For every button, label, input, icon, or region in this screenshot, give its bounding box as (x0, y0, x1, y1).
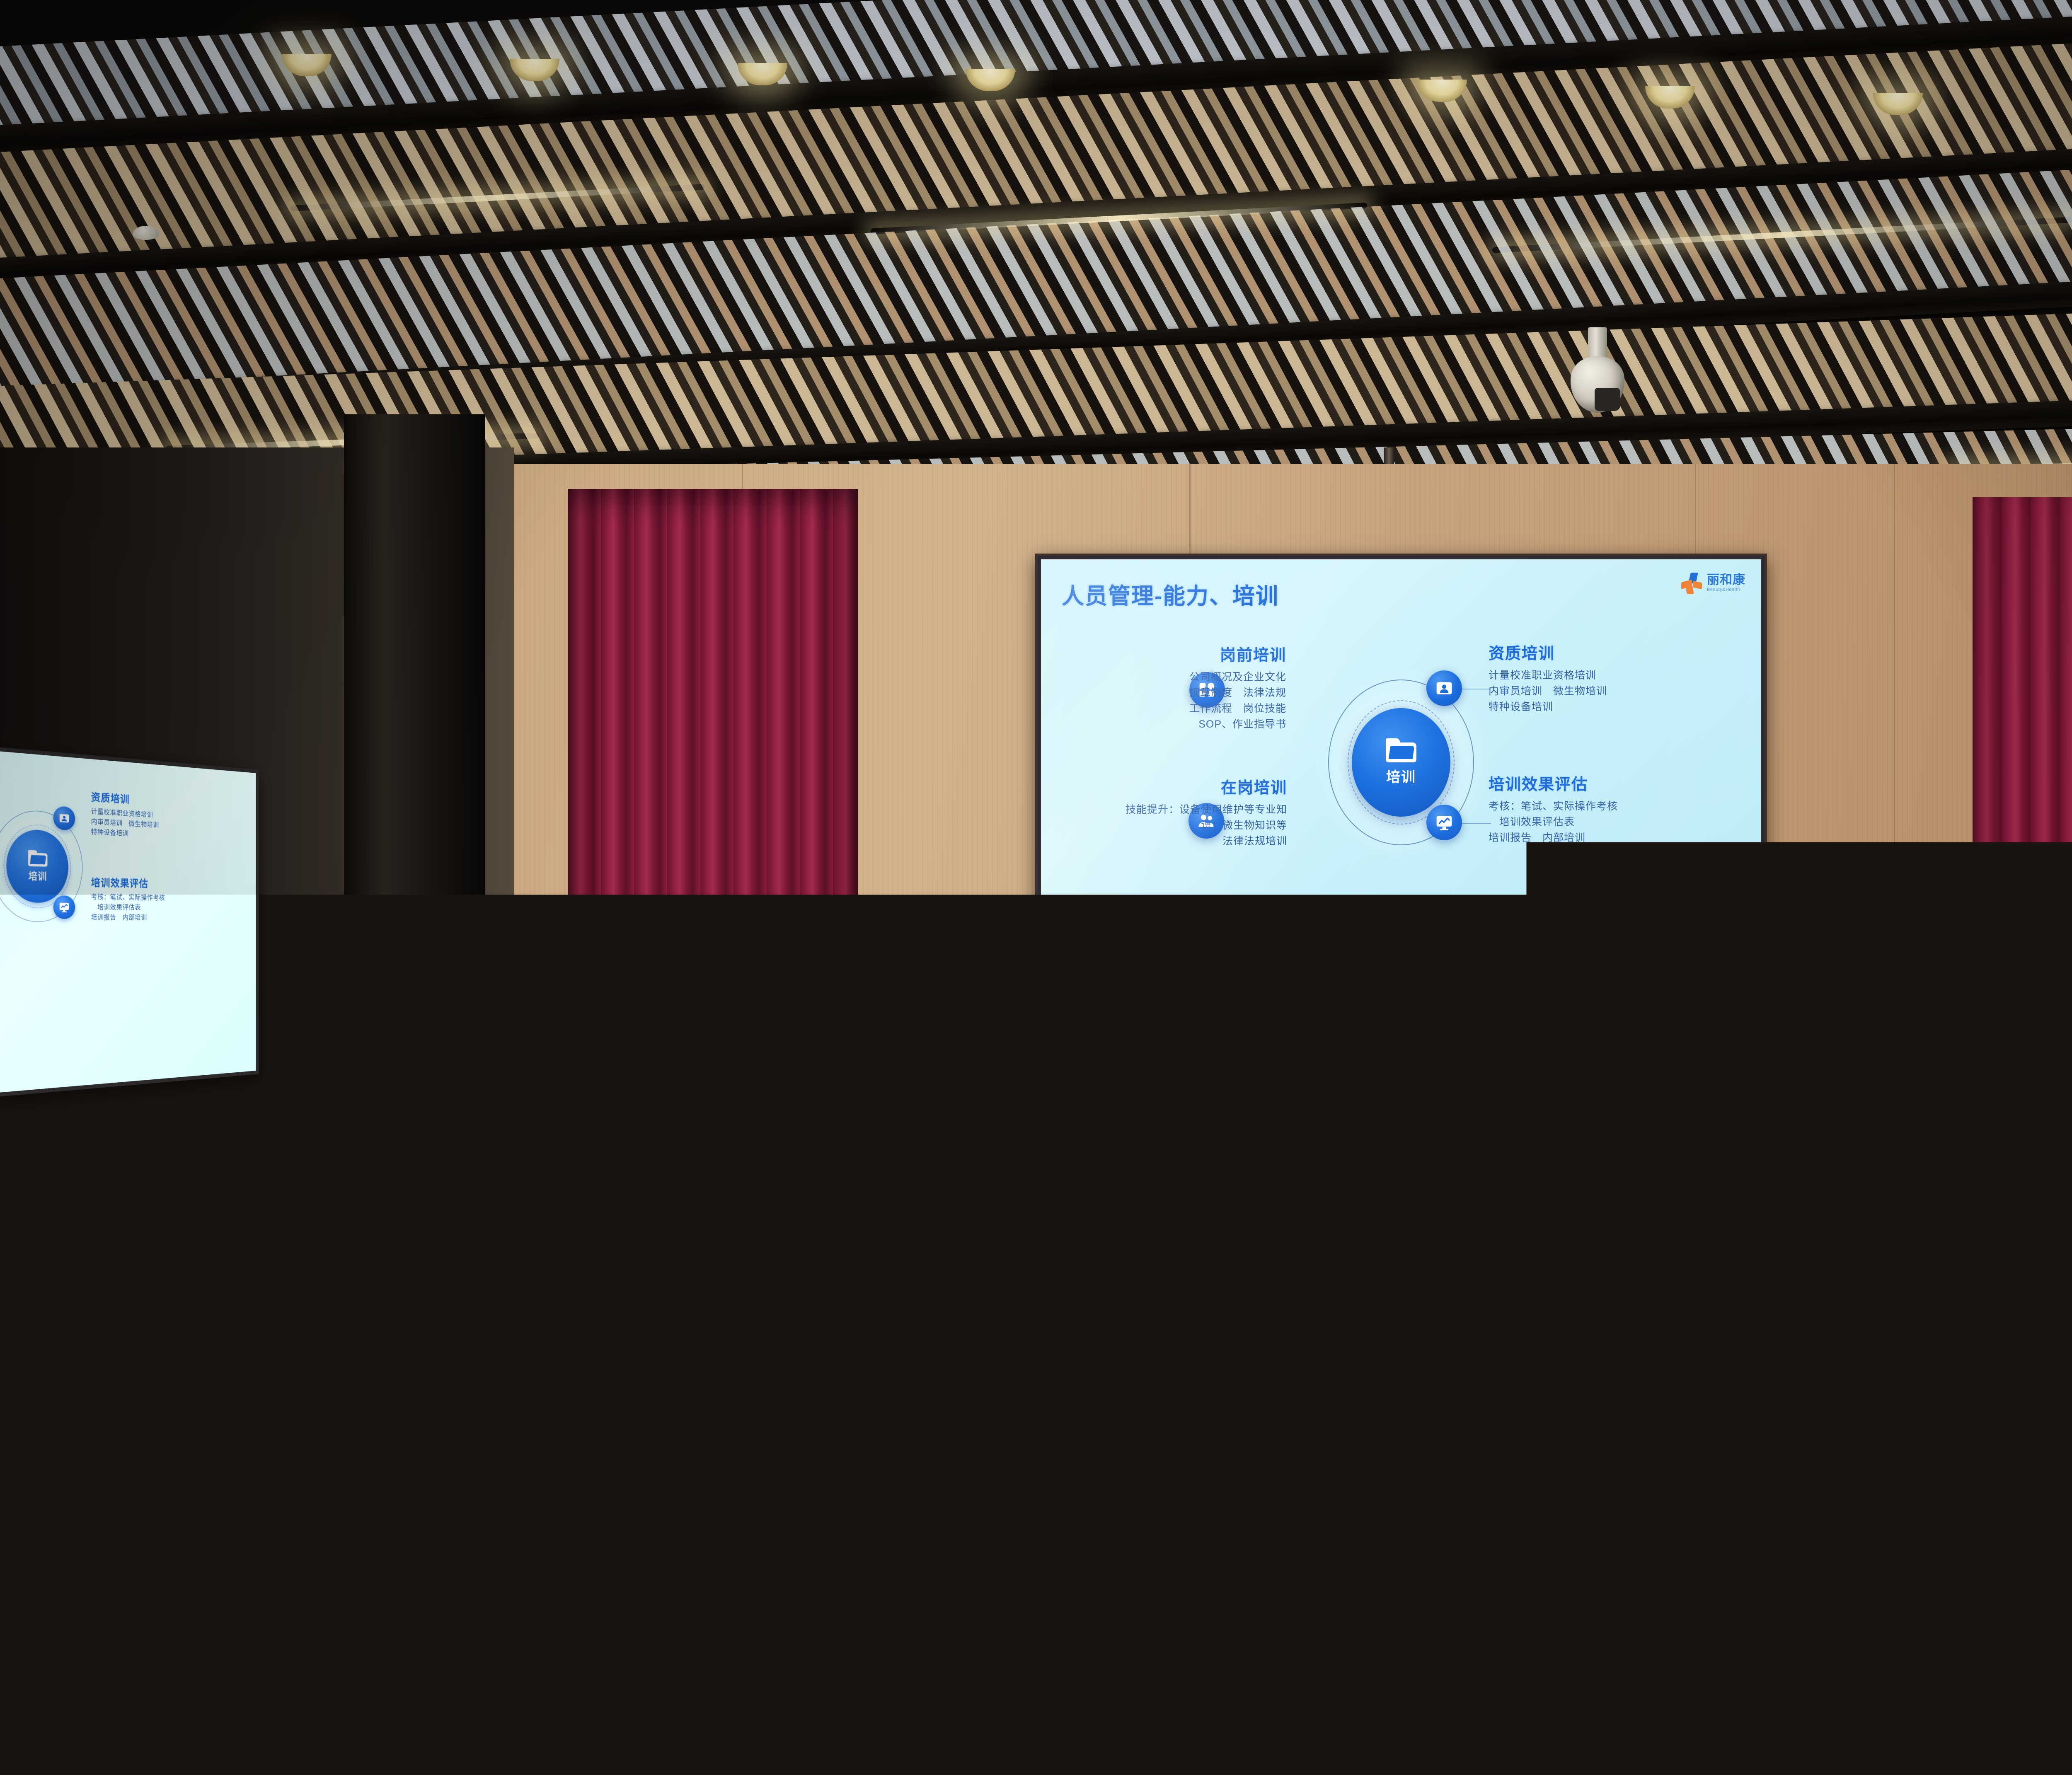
audience-person (1098, 1245, 1160, 1303)
camera-lens (1595, 388, 1620, 411)
secondary-slide: 培训 岗前培训 公司概况及企 (0, 750, 256, 1093)
seat[interactable] (1881, 1637, 2072, 1775)
structural-pillar (344, 414, 485, 1272)
wall-vent-grille (95, 1119, 240, 1218)
block-training-effect-evaluation: 培训效果评估 考核：笔试、实际操作考核 培训效果评估表 培训报告 内部培训 (91, 874, 224, 923)
water-bottle[interactable] (1036, 1630, 1060, 1692)
audience-person (696, 1243, 758, 1301)
seat[interactable] (742, 1469, 916, 1606)
water-bottle[interactable] (1011, 1089, 1025, 1127)
wall-panel-seam (1894, 464, 1895, 1193)
podium-top (617, 1052, 754, 1098)
ptz-dome-camera (1571, 327, 1624, 414)
seat[interactable] (145, 1458, 319, 1595)
audience-area (0, 1226, 2072, 1775)
audience-person (518, 1309, 593, 1380)
secondary-diagram: 培训 岗前培训 公司概况及企 (0, 750, 241, 1001)
stage-curtain-right (1973, 497, 2072, 1193)
audience-person (1475, 1231, 1546, 1297)
seat[interactable] (651, 1351, 787, 1458)
center-node-label: 培训 (29, 868, 47, 883)
audience-person (1600, 1241, 1662, 1299)
monitor-chart-icon (53, 895, 75, 919)
seat[interactable] (1318, 1632, 1550, 1775)
seat[interactable] (506, 1620, 738, 1775)
table-surface (823, 1129, 2049, 1150)
audience-person (1144, 1363, 1322, 1595)
table-groove (823, 1204, 2049, 1210)
smoke-detector-icon (133, 226, 159, 240)
name-placard-text: 冯海俊 (956, 1105, 994, 1124)
audience-person (1952, 1318, 2022, 1385)
handout-booklet[interactable] (152, 1664, 324, 1775)
block-line: 培训报告 内部培训 (91, 912, 224, 923)
handout-booklet[interactable] (1522, 1652, 1669, 1746)
seat[interactable] (804, 1351, 941, 1458)
audience-person (1720, 1315, 1794, 1386)
seat[interactable] (539, 1467, 713, 1603)
water-bottle[interactable] (879, 1092, 893, 1130)
audience-person (1678, 1434, 1794, 1599)
seat[interactable] (340, 1463, 514, 1599)
audience-person (845, 1240, 908, 1298)
wall-socket[interactable] (789, 1083, 814, 1105)
block-line: 培训效果评估表 (91, 902, 224, 913)
screen-inner-border (1038, 556, 1765, 953)
main-projection-screen: 人员管理-能力、培训 丽和康 Beauty&Health (1035, 554, 1767, 955)
audience-person (1301, 1289, 1388, 1371)
audience-person (978, 1308, 1057, 1382)
bottle-cap (881, 1086, 890, 1093)
audience-person (1467, 1392, 1591, 1566)
bottle-cap (1014, 1083, 1023, 1090)
seat[interactable] (787, 1624, 1019, 1775)
block-heading: 培训效果评估 (91, 874, 224, 891)
name-placard: 冯海俊 (950, 1103, 1000, 1127)
secondary-projection-screen: 培训 岗前培训 公司概况及企 (0, 746, 259, 1098)
block-line: 考核：笔试、实际操作考核 (91, 892, 224, 903)
audience-person (1964, 1245, 2022, 1299)
audience-person (2064, 1245, 2072, 1299)
seat[interactable] (2055, 1361, 2072, 1468)
auditorium-scene: 冯海俊 人员管理-能力、培训 丽和康 Beauty&Health (0, 0, 2072, 1775)
seat[interactable] (1939, 1484, 2072, 1621)
tablet-arm-table[interactable] (1053, 1666, 1268, 1690)
block-qualification-training: 资质培训 计量校准职业资格培训 内审员培训 微生物培训 特种设备培训 (91, 788, 224, 843)
audience-person (1019, 1421, 1127, 1579)
folder-icon (28, 850, 47, 867)
